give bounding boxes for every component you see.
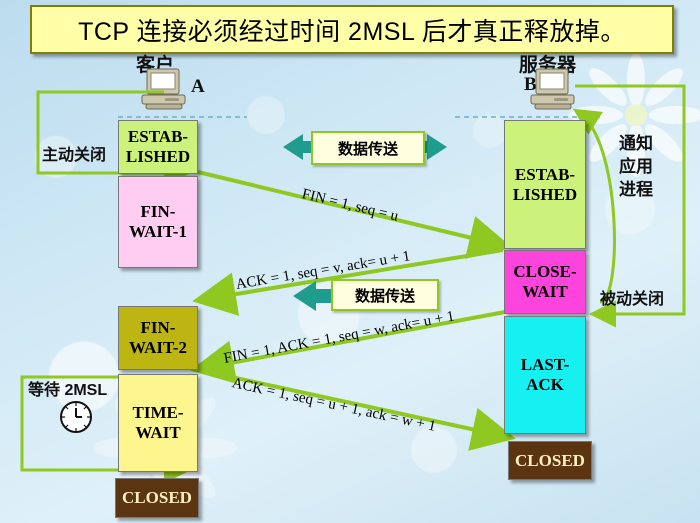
client-state-closed[interactable]: CLOSED	[115, 478, 199, 518]
server-state-last-ack[interactable]: LAST- ACK	[504, 316, 586, 434]
data-badge-upper: 数据传送	[311, 131, 425, 165]
annotation-active-close: 主动关闭	[42, 146, 106, 166]
state-line-1: ESTAB-	[515, 165, 575, 185]
state-line-2: LISHED	[513, 185, 577, 205]
server-state-close-wait[interactable]: CLOSE- WAIT	[504, 250, 586, 314]
data-badge-lower: 数据传送	[331, 279, 439, 311]
state-line-1: TIME-	[133, 403, 184, 423]
client-state-established[interactable]: ESTAB- LISHED	[118, 120, 198, 174]
state-line-2: WAIT	[522, 282, 567, 302]
annotation-passive-close: 被动关闭	[600, 290, 664, 310]
annotation-notify-app-line2: 应用	[619, 156, 653, 177]
annotation-notify-app-line1: 通知	[619, 133, 653, 154]
state-line-1: ESTAB-	[128, 127, 188, 147]
state-line-1: LAST-	[521, 355, 570, 375]
state-line-2: WAIT-1	[129, 222, 187, 242]
state-line-1: CLOSED	[122, 488, 192, 508]
state-line-2: WAIT-2	[129, 338, 187, 358]
state-line-2: ACK	[526, 375, 564, 395]
state-line-2: LISHED	[126, 147, 190, 167]
client-state-time-wait[interactable]: TIME- WAIT	[118, 374, 198, 472]
annotation-wait-2msl: 等待 2MSL	[28, 381, 107, 401]
state-line-1: CLOSED	[515, 451, 585, 471]
state-line-1: FIN-	[141, 318, 176, 338]
state-line-1: CLOSE-	[513, 262, 576, 282]
server-state-closed[interactable]: CLOSED	[508, 441, 592, 480]
clock-icon	[59, 400, 93, 434]
client-state-fin-wait-1[interactable]: FIN- WAIT-1	[118, 176, 198, 268]
state-line-1: FIN-	[141, 202, 176, 222]
state-line-2: WAIT	[135, 423, 180, 443]
annotation-notify-app-line3: 进程	[619, 179, 653, 200]
client-state-fin-wait-2[interactable]: FIN- WAIT-2	[118, 306, 198, 370]
server-state-established[interactable]: ESTAB- LISHED	[504, 120, 586, 249]
